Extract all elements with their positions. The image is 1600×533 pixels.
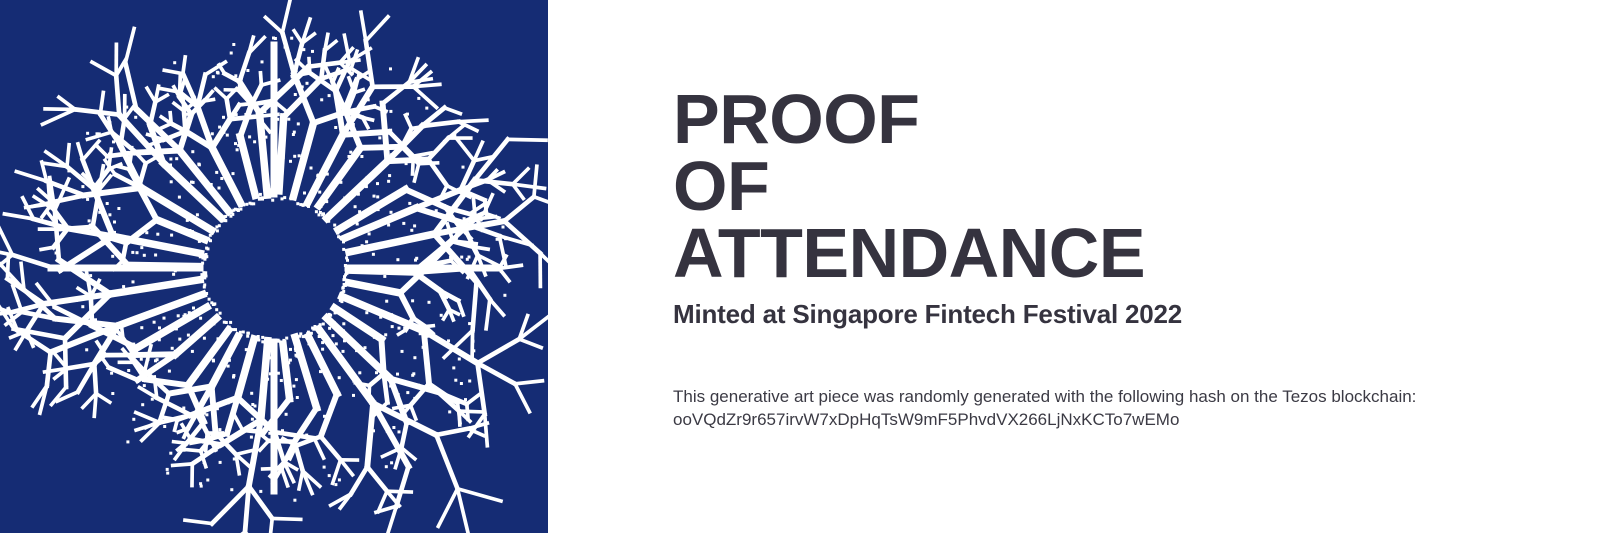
generative-art-panel — [0, 0, 548, 533]
headline-line-1: PROOF — [673, 86, 1573, 153]
certificate-content: PROOF OF ATTENDANCE Minted at Singapore … — [548, 0, 1600, 533]
proof-of-attendance-certificate: PROOF OF ATTENDANCE Minted at Singapore … — [0, 0, 1600, 533]
description-text: This generative art piece was randomly g… — [673, 385, 1533, 408]
headline-line-3: ATTENDANCE — [673, 220, 1573, 287]
radial-dendritic-artwork — [0, 0, 548, 533]
event-subtitle: Minted at Singapore Fintech Festival 202… — [673, 298, 1182, 330]
blockchain-hash: ooVQdZr9r657irvW7xDpHqTsW9mF5PhvdVX266Lj… — [673, 408, 1533, 431]
headline-line-2: OF — [673, 153, 1573, 220]
description-block: This generative art piece was randomly g… — [673, 385, 1533, 431]
page-title: PROOF OF ATTENDANCE — [673, 86, 1573, 287]
